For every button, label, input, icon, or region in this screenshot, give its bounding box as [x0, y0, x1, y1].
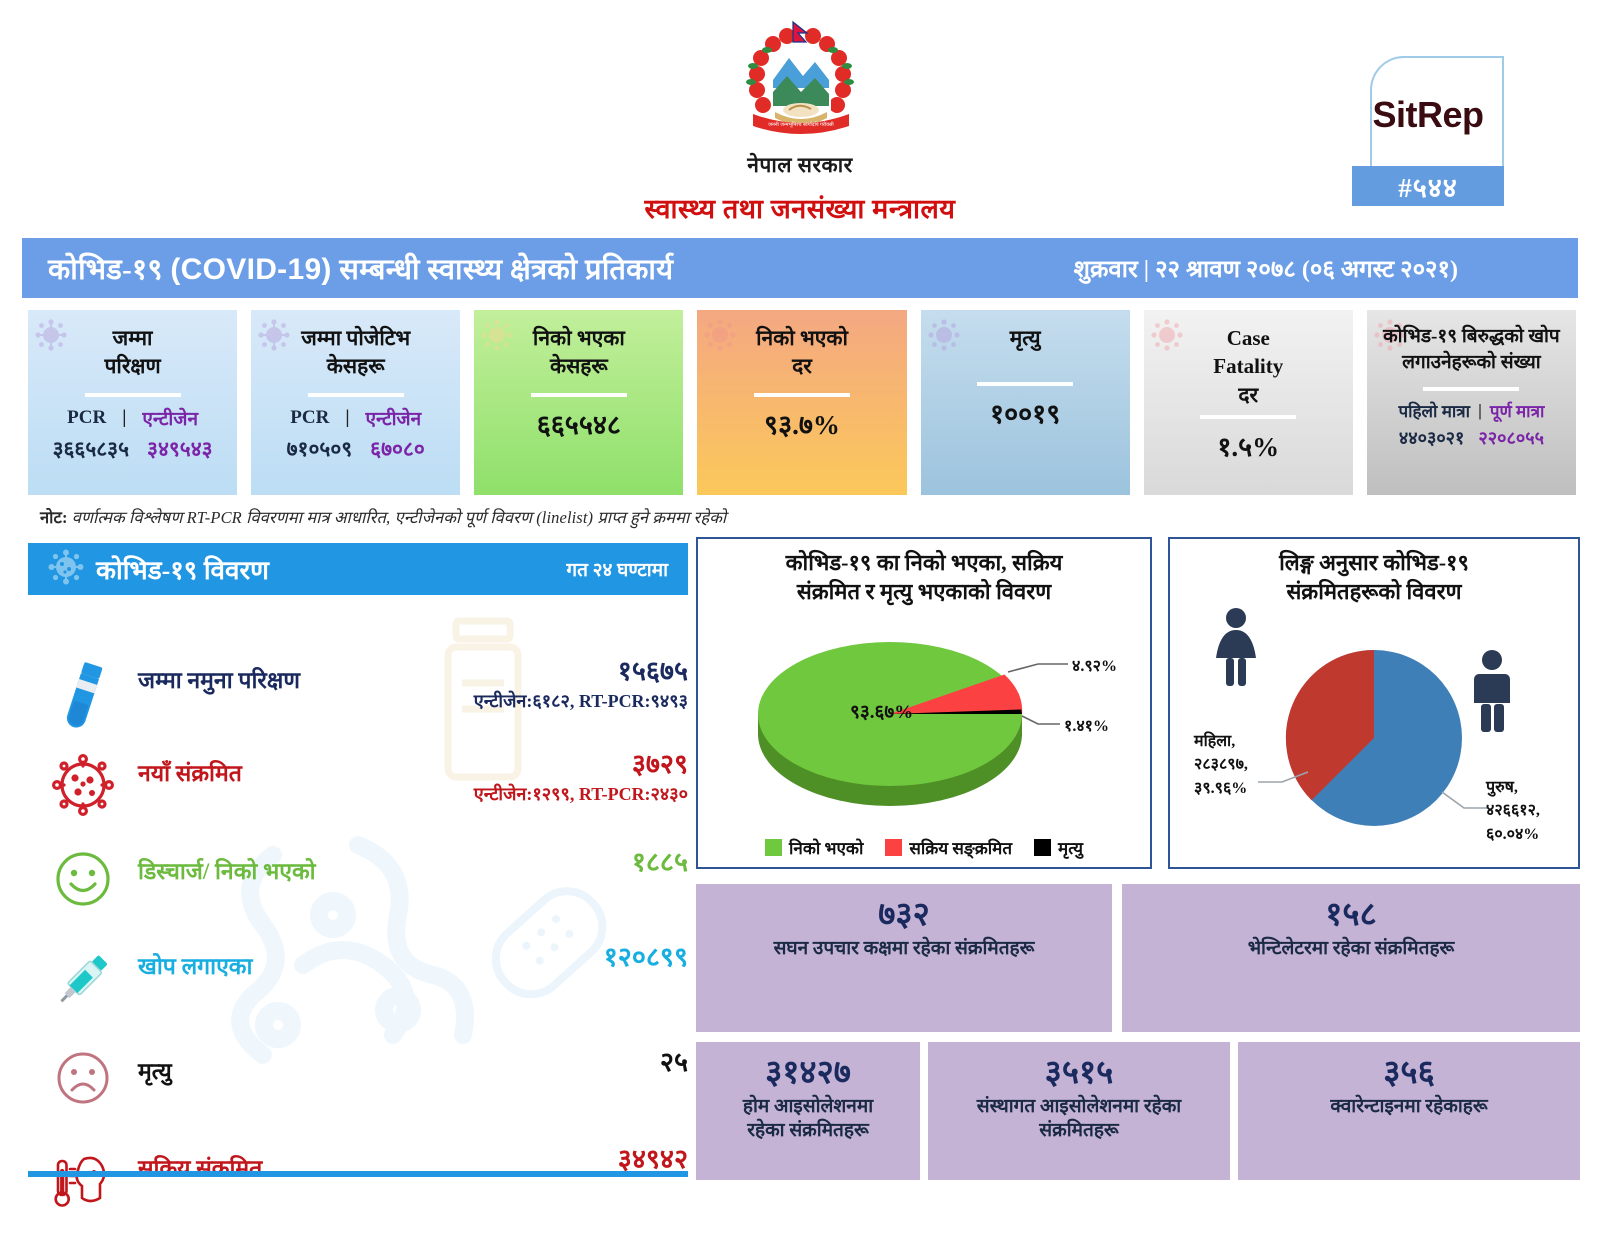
male-label-line2: ४२६६१२,: [1486, 799, 1540, 822]
female-label-line2: २८३८९७,: [1194, 753, 1248, 776]
kpi-value: १.५%: [1217, 427, 1279, 464]
stat-box-number: ७३२: [878, 898, 929, 933]
kpi-value: ६६५५४८: [537, 405, 621, 442]
page-header: जननी जन्मभूमिश्च स्वर्गादपि गरीयसी नेपाल…: [0, 0, 1600, 232]
male-label-line3: ६०.०४%: [1486, 823, 1540, 846]
legend-swatch-black: [1034, 839, 1051, 856]
kpi-value-antigen: ३४९५४३: [147, 435, 213, 463]
kpi-card-total-positive: जम्मा पोजेटिभ केसहरू PCR | एन्टीजेन ७१०५…: [251, 310, 460, 495]
syringe-icon: [28, 943, 138, 1013]
sitrep-number: #५४४: [1352, 166, 1504, 206]
stat-box-label: भेन्टिलेटरमा रहेका संक्रमितहरू: [1240, 937, 1463, 962]
virus-icon: [34, 318, 68, 352]
stat-box-label: संस्थागत आइसोलेशनमा रहेका संक्रमितहरू: [969, 1095, 1189, 1144]
list-item: डिस्चार्ज/ निको भएको १८८५: [28, 848, 688, 908]
smiley-sad-icon: [28, 1048, 138, 1106]
kpi-card-recovery-rate: निको भएको दर ९३.७%: [697, 310, 906, 495]
list-item-values: १५६७५ एन्टीजेन:६१८२, RT-PCR:९४९३: [348, 657, 688, 713]
stat-box-home-isolation: ३१४२७ होम आइसोलेशनमा रहेका संक्रमितहरू: [696, 1042, 920, 1180]
list-item-value: १८८५: [348, 848, 688, 878]
kpi-split-values: ७१०५०९ ६७०८०: [287, 435, 425, 463]
stat-box-number: १५८: [1325, 898, 1376, 933]
kpi-split-values: ३६६५८३५ ३४९५४३: [53, 435, 213, 463]
legend-item-recovered: निको भएको: [765, 836, 863, 859]
title-bar: कोभिड-१९ (COVID-19) सम्बन्धी स्वास्थ्य क…: [22, 238, 1578, 298]
pie-slice-label-female: महिला, २८३८९७, ३९.९६%: [1194, 730, 1248, 800]
covid-details-panel: कोभिड-१९ विवरण गत २४ घण्टामा जम्मा नमुना…: [28, 543, 688, 1171]
chart-legend: निको भएको सक्रिय सङ्क्रमित मृत्यु: [698, 836, 1150, 859]
list-item-breakdown: एन्टीजेन:१२९९, RT-PCR:२४३०: [348, 782, 688, 806]
stat-box-label-line1: सघन उपचार कक्षमा रहेका संक्रमितहरू: [774, 938, 1035, 959]
kpi-card-case-fatality-rate: Case Fatality दर १.५%: [1144, 310, 1353, 495]
chart-title-line2: संक्रमित र मृत्यु भएकाको विवरण: [712, 578, 1136, 607]
kpi-title: कोभिड-१९ बिरुद्धको खोप लगाउनेहरूको संख्य…: [1383, 324, 1560, 375]
legend-item-deaths: मृत्यु: [1034, 836, 1083, 859]
virus-icon: [257, 318, 291, 352]
kpi-title-line2: परिक्षण: [104, 352, 160, 380]
chart-title: कोभिड-१९ का निको भएका, सक्रिय संक्रमित र…: [698, 539, 1150, 606]
kpi-split-values: ४४०३०२१ २२०८०५५: [1399, 426, 1544, 450]
female-figure-icon: [1216, 608, 1256, 686]
virus-icon: [48, 549, 84, 590]
kpi-title: निको भएको दर: [756, 324, 848, 381]
chart-title: लिङ्ग अनुसार कोभिड-१९ संक्रमितहरूको विवर…: [1170, 539, 1578, 606]
kpi-split-labels: PCR | एन्टीजेन: [290, 405, 421, 431]
covid-details-body: जम्मा नमुना परिक्षण १५६७५ एन्टीजेन:६१८२,…: [28, 595, 688, 1155]
title-part-1: कोभिड-१९: [48, 254, 170, 286]
kpi-split-labels: PCR | एन्टीजेन: [67, 405, 198, 431]
chart-title-line1: लिङ्ग अनुसार कोभिड-१९: [1184, 549, 1564, 578]
male-label-line1: पुरुष,: [1486, 776, 1540, 799]
kpi-title-line2: केसहरू: [301, 352, 410, 380]
covid-details-header-left: कोभिड-१९ विवरण: [48, 549, 269, 590]
title-part-en: (COVID-19): [170, 253, 331, 286]
kpi-value: ९३.७%: [764, 405, 840, 442]
stat-box-label-line1: होम आइसोलेशनमा: [743, 1095, 873, 1120]
chart-card-status-pie: कोभिड-१९ का निको भएका, सक्रिय संक्रमित र…: [696, 537, 1152, 869]
kpi-title: जम्मा परिक्षण: [104, 324, 160, 381]
kpi-label-separator: |: [1478, 401, 1482, 421]
kpi-label-first-dose: पहिलो मात्रा: [1398, 399, 1470, 422]
chart-title-line1: कोभिड-१९ का निको भएका, सक्रिय: [712, 549, 1136, 578]
footnote-text: वर्णात्मक विश्लेषण RT-PCR विवरणमा मात्र …: [68, 508, 727, 527]
kpi-title-line1: मृत्यु: [1010, 324, 1041, 352]
kpi-title-line1: Case: [1213, 324, 1283, 352]
stat-box-number: ३५१५: [1045, 1056, 1114, 1091]
legend-item-active: सक्रिय सङ्क्रमित: [885, 836, 1012, 859]
stat-box-label-line1: क्वारेन्टाइनमा रहेकाहरू: [1330, 1095, 1487, 1120]
list-item: नयाँ संक्रमित ३७२९ एन्टीजेन:१२९९, RT-PCR…: [28, 750, 688, 818]
kpi-divider: [531, 393, 627, 397]
kpi-title-line2: दर: [756, 352, 848, 380]
list-item: सक्रिय संक्रमित ३४९४२: [28, 1145, 688, 1213]
list-item-label: मृत्यु: [138, 1048, 172, 1086]
pie-slice-label-male: पुरुष, ४२६६१२, ६०.०४%: [1486, 776, 1540, 846]
covid-details-header: कोभिड-१९ विवरण गत २४ घण्टामा: [28, 543, 688, 595]
kpi-title-line1: कोभिड-१९ बिरुद्धको खोप: [1383, 324, 1560, 350]
list-item: मृत्यु २५: [28, 1048, 688, 1106]
list-item-label: नयाँ संक्रमित: [138, 750, 242, 788]
footnote: नोट: वर्णात्मक विश्लेषण RT-PCR विवरणमा म…: [40, 505, 726, 528]
legend-swatch-green: [765, 839, 782, 856]
list-item-breakdown: एन्टीजेन:६१८२, RT-PCR:९४९३: [348, 689, 688, 713]
stat-box-icu: ७३२ सघन उपचार कक्षमा रहेका संक्रमितहरू: [696, 884, 1112, 1032]
thermometer-person-icon: [28, 1145, 138, 1213]
stat-box-quarantine: ३५६ क्वारेन्टाइनमा रहेकाहरू: [1238, 1042, 1580, 1180]
list-item-values: ३७२९ एन्टीजेन:१२९९, RT-PCR:२४३०: [348, 750, 688, 806]
pie-slice-label-deaths: १.४१%: [1064, 714, 1109, 736]
male-figure-icon: [1474, 650, 1510, 732]
kpi-label-separator: |: [122, 407, 126, 429]
list-item-value: १५६७५: [348, 657, 688, 687]
svg-text:जननी जन्मभूमिश्च स्वर्गादपि गर: जननी जन्मभूमिश्च स्वर्गादपि गरीयसी: [768, 121, 834, 128]
kpi-label-antigen: एन्टीजेन: [366, 405, 422, 431]
stat-box-label: होम आइसोलेशनमा रहेका संक्रमितहरू: [735, 1095, 881, 1144]
kpi-title: निको भएका केसहरू: [533, 324, 625, 381]
kpi-card-row: जम्मा परिक्षण PCR | एन्टीजेन ३६६५८३५ ३४९…: [28, 310, 1576, 495]
legend-label: मृत्यु: [1058, 836, 1083, 859]
list-item-value: १२०८९९: [348, 943, 688, 973]
list-item-label: डिस्चार्ज/ निको भएको: [138, 848, 316, 886]
stat-box-number: ३१४२७: [765, 1056, 851, 1091]
pie-chart-status: ९३.६७% ४.९२% १.४१%: [698, 606, 1150, 824]
kpi-title-line2: लगाउनेहरूको संख्या: [1383, 350, 1560, 376]
stat-box-label-line2: रहेका संक्रमितहरू: [743, 1119, 873, 1144]
kpi-label-separator: |: [345, 407, 349, 429]
kpi-label-antigen: एन्टीजेन: [142, 405, 198, 431]
page-title: कोभिड-१९ (COVID-19) सम्बन्धी स्वास्थ्य क…: [48, 249, 673, 288]
stat-box-label-line1: भेन्टिलेटरमा रहेका संक्रमितहरू: [1248, 938, 1455, 959]
kpi-divider: [308, 393, 404, 397]
covid-details-timeframe: गत २४ घण्टामा: [566, 556, 668, 582]
list-item-label: खोप लगाएका: [138, 943, 252, 981]
kpi-divider: [1200, 415, 1296, 419]
kpi-title-line2: केसहरू: [533, 352, 625, 380]
kpi-divider: [1423, 387, 1519, 391]
kpi-divider: [977, 382, 1073, 386]
legend-swatch-red: [885, 839, 902, 856]
legend-label: निको भएको: [789, 836, 863, 859]
list-item-values: १८८५: [348, 848, 688, 878]
female-label-line1: महिला,: [1194, 730, 1248, 753]
kpi-split-labels: पहिलो मात्रा | पूर्ण मात्रा: [1398, 399, 1544, 422]
list-item-label: सक्रिय संक्रमित: [138, 1145, 262, 1183]
stat-box-label-line2: संक्रमितहरू: [977, 1119, 1181, 1144]
pie-chart-gender: महिला, २८३८९७, ३९.९६% पुरुष, ४२६६१२, ६०.…: [1170, 606, 1578, 856]
virus-icon: [28, 750, 138, 818]
covid-details-title: कोभिड-१९ विवरण: [96, 551, 269, 587]
list-item-value: ३७२९: [348, 750, 688, 780]
footnote-prefix: नोट:: [40, 508, 68, 527]
kpi-title-line1: जम्मा पोजेटिभ: [301, 324, 410, 352]
kpi-card-deaths: मृत्यु १००१९: [921, 310, 1130, 495]
stat-box-label: क्वारेन्टाइनमा रहेकाहरू: [1322, 1095, 1495, 1120]
chart-card-gender-pie: लिङ्ग अनुसार कोभिड-१९ संक्रमितहरूको विवर…: [1168, 537, 1580, 869]
nepal-government-emblem-icon: जननी जन्मभूमिश्च स्वर्गादपि गरीयसी: [731, 14, 869, 149]
list-item-value: २५: [348, 1048, 688, 1078]
female-label-line3: ३९.९६%: [1194, 777, 1248, 800]
legend-label: सक्रिय सङ्क्रमित: [909, 836, 1012, 859]
report-date: शुक्रवार | २२ श्रावण २०७८ (०६ अगस्ट २०२१…: [1074, 252, 1552, 285]
kpi-value-pcr: ७१०५०९: [287, 435, 353, 463]
sitrep-word: SitRep: [1352, 94, 1504, 136]
kpi-title: मृत्यु: [1010, 324, 1041, 352]
kpi-title: Case Fatality दर: [1213, 324, 1283, 409]
kpi-card-recovered: निको भएका केसहरू ६६५५४८: [474, 310, 683, 495]
kpi-title-line1: निको भएका: [533, 324, 625, 352]
stat-box-label: सघन उपचार कक्षमा रहेका संक्रमितहरू: [766, 937, 1043, 962]
smiley-happy-icon: [28, 848, 138, 908]
stat-box-number: ३५६: [1383, 1056, 1434, 1091]
chart-title-line2: संक्रमितहरूको विवरण: [1184, 578, 1564, 607]
kpi-title-line1: जम्मा: [104, 324, 160, 352]
stat-box-ventilator: १५८ भेन्टिलेटरमा रहेका संक्रमितहरू: [1122, 884, 1580, 1032]
kpi-divider: [85, 393, 181, 397]
kpi-label-pcr: PCR: [290, 407, 329, 429]
list-item-values: १२०८९९: [348, 943, 688, 973]
list-item: खोप लगाएका १२०८९९: [28, 943, 688, 1013]
virus-icon: [703, 318, 737, 352]
kpi-label-pcr: PCR: [67, 407, 106, 429]
panel-bottom-rule: [28, 1171, 688, 1177]
kpi-title-line1: निको भएको: [756, 324, 848, 352]
kpi-title-line2: Fatality: [1213, 352, 1283, 380]
kpi-divider: [754, 393, 850, 397]
kpi-value: १००१९: [990, 394, 1060, 431]
kpi-value-first-dose: ४४०३०२१: [1399, 426, 1465, 450]
virus-icon: [1150, 318, 1184, 352]
stat-box-institutional-isolation: ३५१५ संस्थागत आइसोलेशनमा रहेका संक्रमितह…: [928, 1042, 1230, 1180]
stat-box-label-line1: संस्थागत आइसोलेशनमा रहेका: [977, 1095, 1181, 1120]
list-item-values: २५: [348, 1048, 688, 1078]
kpi-label-full-dose: पूर्ण मात्रा: [1490, 399, 1545, 422]
kpi-value-antigen: ६७०८०: [370, 435, 425, 463]
test-tube-icon: [28, 657, 138, 733]
kpi-title-line3: दर: [1213, 381, 1283, 409]
kpi-value-pcr: ३६६५८३५: [53, 435, 129, 463]
pie-slice-label-active: ४.९२%: [1072, 654, 1117, 676]
virus-icon: [927, 318, 961, 352]
kpi-card-total-tests: जम्मा परिक्षण PCR | एन्टीजेन ३६६५८३५ ३४९…: [28, 310, 237, 495]
kpi-title: जम्मा पोजेटिभ केसहरू: [301, 324, 410, 381]
sitrep-badge: SitRep #५४४: [1352, 56, 1504, 206]
pie-slice-label-recovered: ९३.६७%: [850, 698, 913, 724]
kpi-card-vaccinated: कोभिड-१९ बिरुद्धको खोप लगाउनेहरूको संख्य…: [1367, 310, 1576, 495]
title-part-2: सम्बन्धी स्वास्थ्य क्षेत्रको प्रतिकार्य: [332, 254, 674, 286]
virus-icon: [480, 318, 514, 352]
kpi-value-full-dose: २२०८०५५: [1478, 426, 1544, 450]
list-item: जम्मा नमुना परिक्षण १५६७५ एन्टीजेन:६१८२,…: [28, 657, 688, 733]
list-item-label: जम्मा नमुना परिक्षण: [138, 657, 300, 695]
